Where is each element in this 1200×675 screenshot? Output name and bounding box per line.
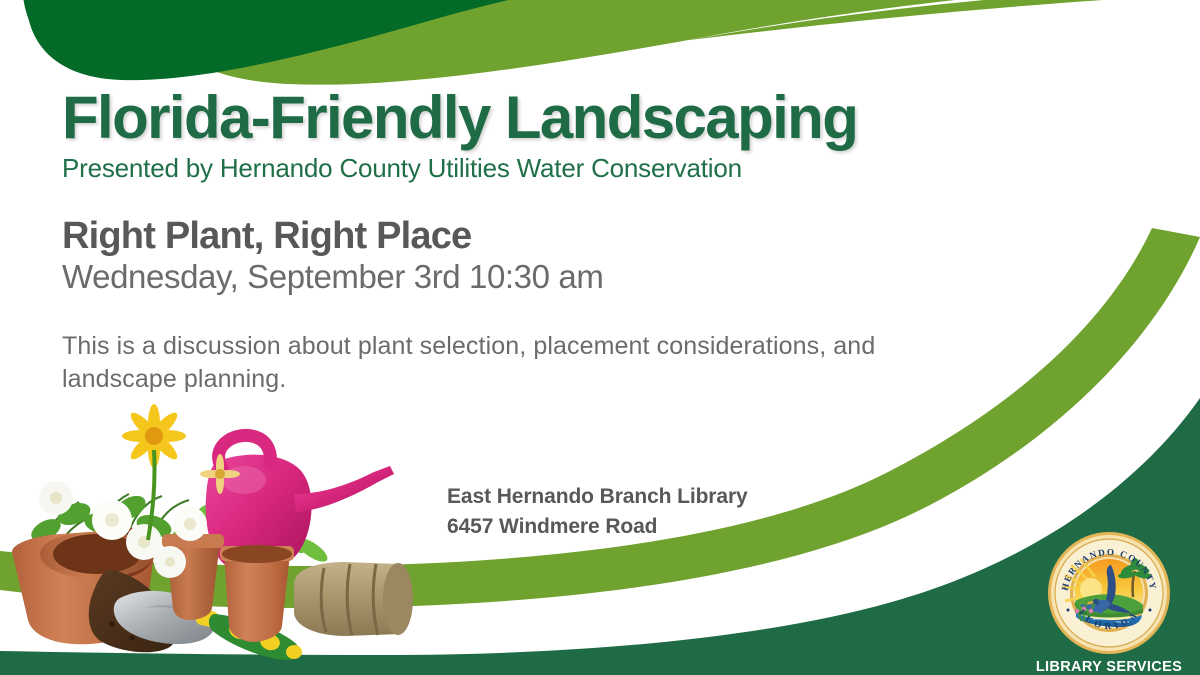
location-address: 6457 Windmere Road <box>447 512 887 542</box>
small-pot-b <box>220 545 294 642</box>
location-block: East Hernando Branch Library 6457 Windme… <box>447 482 887 542</box>
logo-block: HERNANDO COUNTY FLORIDA LIBRARY SERVICES <box>1033 531 1185 675</box>
session-title: Right Plant, Right Place <box>62 215 962 258</box>
gardening-photo <box>0 402 414 675</box>
location-name: East Hernando Branch Library <box>447 482 887 512</box>
page-title: Florida-Friendly Landscaping <box>62 88 1022 148</box>
title-block: Florida-Friendly Landscaping Presented b… <box>62 88 1022 184</box>
hernando-county-seal-icon: HERNANDO COUNTY FLORIDA <box>1047 531 1171 655</box>
peat-pots <box>294 562 413 636</box>
flyer-canvas: Florida-Friendly Landscaping Presented b… <box>0 0 1200 675</box>
description-text: This is a discussion about plant selecti… <box>62 330 892 395</box>
logo-caption: LIBRARY SERVICES <box>1033 659 1185 675</box>
session-datetime: Wednesday, September 3rd 10:30 am <box>62 258 962 297</box>
swoosh-group <box>26 0 1200 85</box>
description-block: This is a discussion about plant selecti… <box>62 330 892 395</box>
presenter-line: Presented by Hernando County Utilities W… <box>62 153 1022 184</box>
session-block: Right Plant, Right Place Wednesday, Sept… <box>62 215 962 296</box>
